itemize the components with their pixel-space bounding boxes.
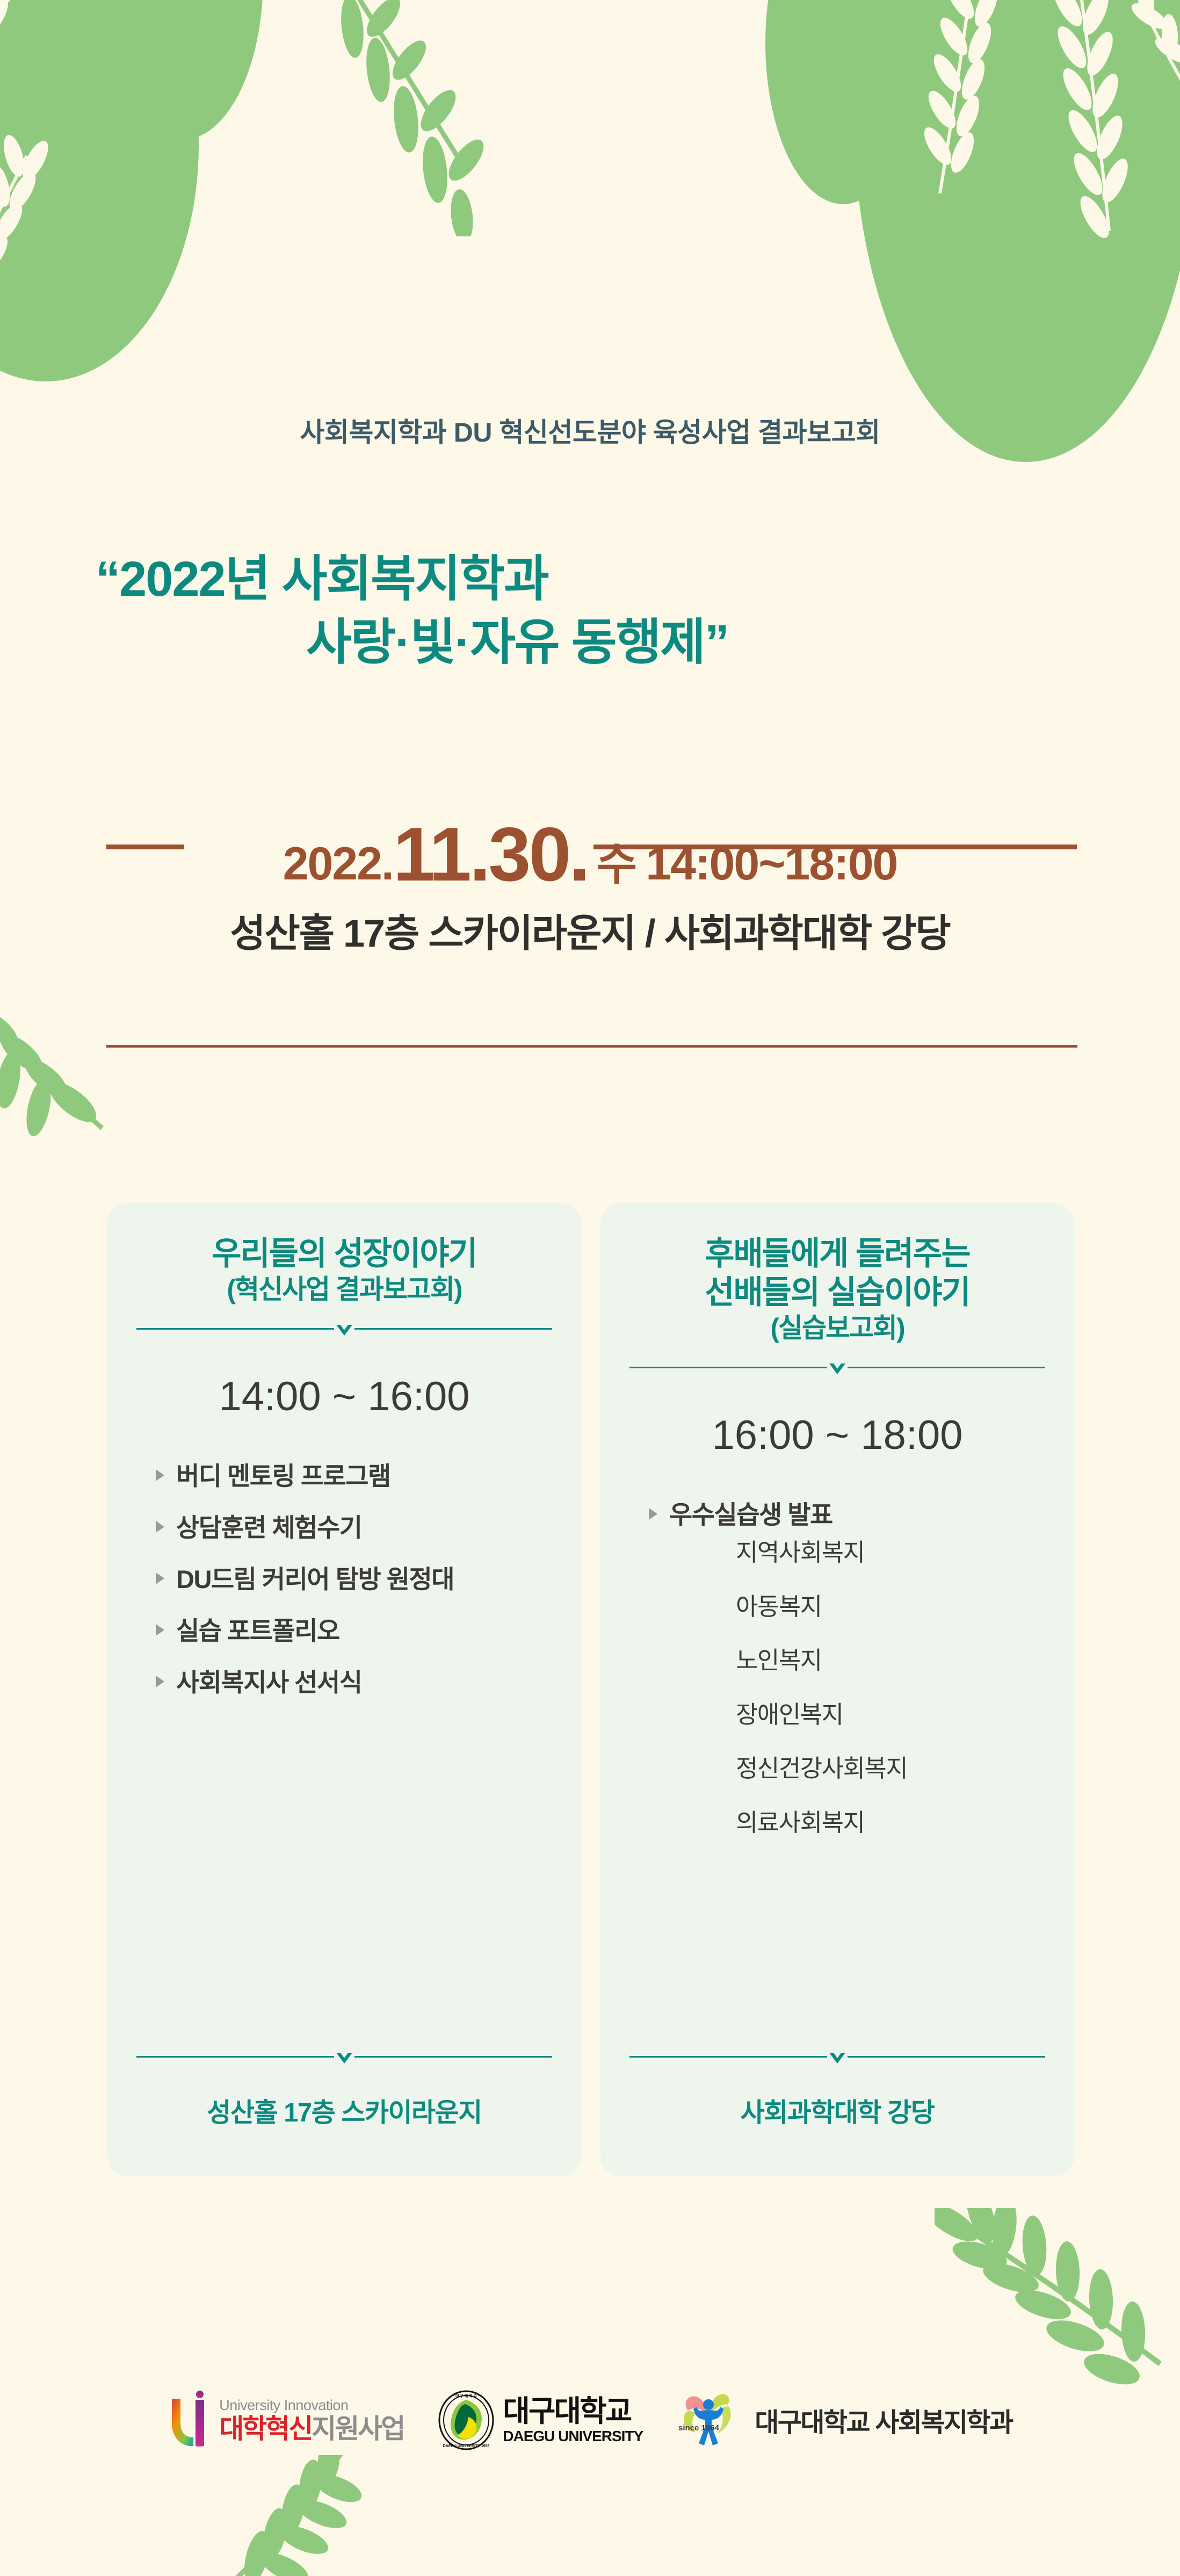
headline-line-1: “2022년 사회복지학과 [81,548,1101,611]
card-item-list: 버디 멘토링 프로그램 상담훈련 체험수기 DU드림 커리어 탐방 원정대 실습… [133,1460,555,1718]
list-item: 우수실습생 발표 지역사회복지 아동복지 노인복지 장애인복지 정신건강사회복지… [646,1498,1048,1841]
card-title-sub: (혁신사업 결과보고회) [133,1273,555,1305]
dept-logo-text: 대구대학교 사회복지학과 [755,2401,1012,2440]
divider-bottom [136,2052,552,2073]
sub-list-item: 지역사회복지 [712,1535,1048,1571]
list-item: 상담훈련 체험수기 [153,1511,555,1545]
date-rule-left [106,845,184,849]
card-footer: 사회과학대학 강당 [626,2052,1048,2176]
triangle-bullet-icon [156,1624,164,1636]
card-time-range: 16:00 ~ 18:00 [626,1412,1048,1459]
sub-list-item: 정신건강사회복지 [712,1751,1048,1787]
divider-bottom [629,2052,1045,2073]
leaf-sprig-mid-left [0,983,129,1150]
list-item-label: 실습 포트폴리오 [176,1617,339,1645]
date-month-day: 11.30. [393,817,588,893]
sub-list-item: 장애인복지 [712,1697,1048,1733]
chevron-down-icon [334,1324,354,1339]
event-poster: 사회복지학과 DU 혁신선도분야 육성사업 결과보고회 “2022년 사회복지학… [0,0,1180,2576]
card-title: 우리들의 성장이야기 (혁신사업 결과보고회) [133,1235,555,1305]
program-card-practicum-story[interactable]: 후배들에게 들려주는 선배들의 실습이야기 (실습보고회) 16:00 ~ 18… [600,1203,1074,2176]
triangle-bullet-icon [649,1508,657,1520]
logo-daegu-university: · 대 구 대 학 교 · DAEGU UNIVERSITY 1956 대구대학… [437,2390,643,2450]
logo-social-welfare-department: since 1964 대구대학교 사회복지학과 [676,2391,1012,2450]
leaf-decoration-top-left [0,0,312,392]
ui-logo-bottom-text: 대학혁신지원사업 [219,2415,404,2442]
ui-logo-red-text: 대학혁신 [219,2414,312,2444]
card-place: 성산홀 17층 스카이라운지 [133,2073,555,2176]
chevron-down-icon [827,2052,848,2067]
card-title-main: 우리들의 성장이야기 [212,1236,476,1272]
triangle-bullet-icon [156,1521,164,1533]
sub-list-item: 아동복지 [712,1589,1048,1625]
list-item: 실습 포트폴리오 [153,1614,555,1648]
venue-text: 성산홀 17층 스카이라운지 / 사회과학대학 강당 [0,901,1180,958]
date-time-block: 2022. 11.30. 수 14:00~18:00 성산홀 17층 스카이라운… [0,817,1180,958]
program-card-growth-story[interactable]: 우리들의 성장이야기 (혁신사업 결과보고회) 14:00 ~ 16:00 버디… [107,1203,581,2176]
date-time-range: 14:00~18:00 [646,838,897,891]
du-logo-korean: 대구대학교 [503,2397,643,2426]
svg-text:· 대 구 대 학 교 ·: · 대 구 대 학 교 · [453,2393,480,2398]
list-item-label: DU드림 커리어 탐방 원정대 [176,1565,454,1593]
leaf-sprig-top-center [333,0,510,236]
card-item-list: 우수실습생 발표 지역사회복지 아동복지 노인복지 장애인복지 정신건강사회복지… [626,1498,1048,1859]
footer-logos: University Innovation 대학혁신지원사업 · 대 구 대 학… [0,2361,1180,2479]
sub-list-item: 의료사회복지 [712,1805,1048,1841]
daegu-university-seal-icon: · 대 구 대 학 교 · DAEGU UNIVERSITY 1956 [437,2390,495,2450]
list-item-label: 버디 멘토링 프로그램 [176,1462,390,1490]
divider-top [629,1362,1045,1384]
card-title: 후배들에게 들려주는 선배들의 실습이야기 (실습보고회) [626,1235,1048,1344]
sub-list-item: 노인복지 [712,1643,1048,1679]
card-title-sub: (실습보고회) [626,1312,1048,1344]
chevron-down-icon [334,2052,354,2067]
card-time-range: 14:00 ~ 16:00 [133,1373,555,1420]
since-label: since 1964 [678,2423,720,2433]
page-title: “2022년 사회복지학과 사랑·빛·자유 동행제” [81,548,1101,675]
ui-logo-top-text: University Innovation [219,2398,404,2413]
divider-top [136,1324,552,1345]
logo-university-innovation: University Innovation 대학혁신지원사업 [168,2390,404,2450]
card-title-line-1: 후배들에게 들려주는 [705,1236,969,1272]
kicker-text: 사회복지학과 DU 혁신선도분야 육성사업 결과보고회 [0,411,1180,450]
chevron-down-icon [827,1362,848,1377]
du-logo-english: DAEGU UNIVERSITY [503,2429,643,2444]
list-item-label: 사회복지사 선서식 [176,1668,361,1697]
card-place: 사회과학대학 강당 [626,2073,1048,2176]
card-title-line-2: 선배들의 실습이야기 [705,1274,969,1310]
ui-logo-gray-text: 지원사업 [312,2414,404,2444]
triangle-bullet-icon [156,1676,164,1687]
triangle-bullet-icon [156,1469,164,1481]
ui-mark-icon [168,2390,212,2450]
date-row: 2022. 11.30. 수 14:00~18:00 [0,817,1180,892]
list-item: 버디 멘토링 프로그램 [153,1460,555,1493]
svg-text:DAEGU UNIVERSITY 1956: DAEGU UNIVERSITY 1956 [443,2444,490,2448]
venue-rule [106,1045,1077,1048]
list-item: DU드림 커리어 탐방 원정대 [153,1563,555,1596]
heart-person-icon: since 1964 [676,2391,746,2450]
card-sub-item-list: 지역사회복지 아동복지 노인복지 장애인복지 정신건강사회복지 의료사회복지 [669,1535,1048,1841]
headline-line-2: 사랑·빛·자유 동행제” [81,611,1101,675]
program-cards: 우리들의 성장이야기 (혁신사업 결과보고회) 14:00 ~ 16:00 버디… [107,1203,1074,2176]
triangle-bullet-icon [156,1572,164,1584]
list-item-label: 상담훈련 체험수기 [176,1513,361,1542]
list-item-label: 우수실습생 발표 [669,1500,832,1529]
list-item: 사회복지사 선서식 [153,1666,555,1699]
date-day-of-week: 수 [597,828,637,892]
date-year: 2022. [283,838,393,891]
card-footer: 성산홀 17층 스카이라운지 [133,2052,555,2176]
